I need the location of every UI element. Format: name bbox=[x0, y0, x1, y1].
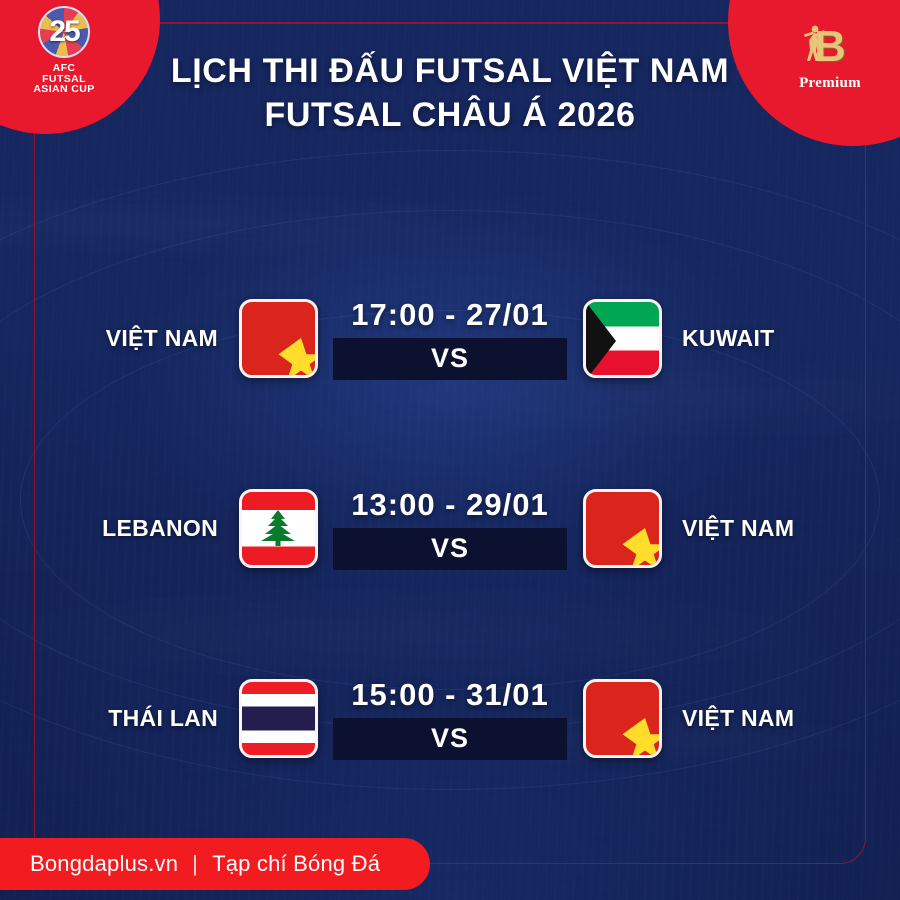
match-time: 17:00 - 27/01 bbox=[351, 297, 548, 333]
vietnam-flag bbox=[239, 299, 318, 378]
vs-label: VS bbox=[431, 723, 469, 754]
match-center: 15:00 - 31/01 VS bbox=[330, 677, 570, 760]
footer-brand-bar: Bongdaplus.vn | Tạp chí Bóng Đá bbox=[0, 838, 430, 890]
match-schedule-list: VIỆT NAM 17:00 - 27/01 VS KUWAIT LEBANON bbox=[0, 243, 900, 813]
vietnam-flag bbox=[583, 679, 662, 758]
home-team-name: THÁI LAN bbox=[41, 705, 226, 732]
vs-bar: VS bbox=[333, 718, 567, 760]
footer-site-name: Bongdaplus.vn bbox=[0, 851, 178, 877]
cedar-tree-icon bbox=[261, 510, 295, 546]
match-row: VIỆT NAM 17:00 - 27/01 VS KUWAIT bbox=[0, 243, 900, 433]
away-team-name: KUWAIT bbox=[674, 325, 859, 352]
match-center: 17:00 - 27/01 VS bbox=[330, 297, 570, 380]
home-flag-wrap bbox=[226, 679, 330, 758]
vs-bar: VS bbox=[333, 338, 567, 380]
away-team-name: VIỆT NAM bbox=[674, 515, 859, 542]
away-flag-wrap bbox=[570, 489, 674, 568]
match-row: LEBANON 13:00 - 29/01 VS bbox=[0, 433, 900, 623]
thailand-flag bbox=[239, 679, 318, 758]
footer-separator: | bbox=[178, 851, 200, 877]
match-time: 13:00 - 29/01 bbox=[351, 487, 548, 523]
vs-label: VS bbox=[431, 533, 469, 564]
kuwait-flag bbox=[583, 299, 662, 378]
afc-emblem-number: 25 bbox=[49, 15, 78, 49]
title-line-2: FUTSAL CHÂU Á 2026 bbox=[0, 94, 900, 138]
lebanon-flag bbox=[239, 489, 318, 568]
home-team-name: LEBANON bbox=[41, 515, 226, 542]
away-team-name: VIỆT NAM bbox=[674, 705, 859, 732]
match-row: THÁI LAN 15:00 - 31/01 VS VIỆT NAM bbox=[0, 623, 900, 813]
away-flag-wrap bbox=[570, 679, 674, 758]
poster-canvas: 25 AFC FUTSAL ASIAN CUP B Premium LỊCH T… bbox=[0, 0, 900, 900]
vs-label: VS bbox=[431, 343, 469, 374]
title-line-1: LỊCH THI ĐẤU FUTSAL VIỆT NAM bbox=[0, 50, 900, 94]
match-center: 13:00 - 29/01 VS bbox=[330, 487, 570, 570]
home-flag-wrap bbox=[226, 489, 330, 568]
footer-tagline: Tạp chí Bóng Đá bbox=[200, 851, 380, 877]
page-title: LỊCH THI ĐẤU FUTSAL VIỆT NAM FUTSAL CHÂU… bbox=[0, 50, 900, 137]
home-flag-wrap bbox=[226, 299, 330, 378]
away-flag-wrap bbox=[570, 299, 674, 378]
vietnam-flag bbox=[583, 489, 662, 568]
vs-bar: VS bbox=[333, 528, 567, 570]
match-time: 15:00 - 31/01 bbox=[351, 677, 548, 713]
home-team-name: VIỆT NAM bbox=[41, 325, 226, 352]
